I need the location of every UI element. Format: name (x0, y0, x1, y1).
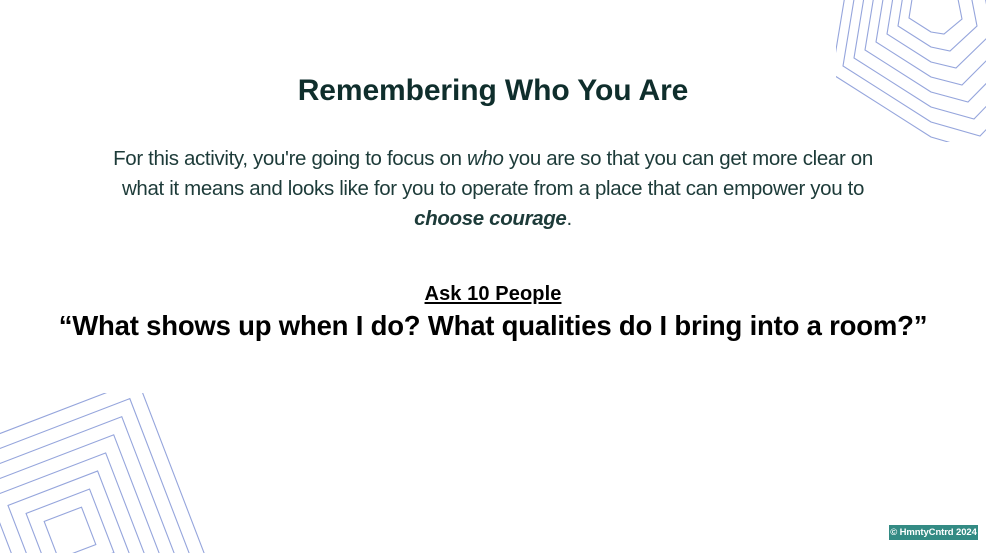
intro-text-part1: For this activity, you're going to focus… (113, 147, 467, 170)
page-title: Remembering Who You Are (0, 74, 986, 108)
intro-paragraph: For this activity, you're going to focus… (93, 144, 893, 234)
prompt-heading: Ask 10 People (0, 283, 986, 306)
slide-canvas: Remembering Who You Are For this activit… (0, 0, 986, 553)
bottom-left-square-decoration-icon (0, 393, 210, 553)
prompt-quote: “What shows up when I do? What qualities… (0, 309, 986, 343)
intro-emphasis-who: who (467, 147, 504, 170)
copyright-badge: © HmntyCntrd 2024 (889, 525, 978, 540)
intro-emphasis-choose-courage: choose courage (414, 207, 566, 230)
top-right-polygon-decoration-icon (836, 0, 986, 142)
prompt-block: Ask 10 People “What shows up when I do? … (0, 283, 986, 343)
intro-text-part3: . (566, 207, 571, 230)
